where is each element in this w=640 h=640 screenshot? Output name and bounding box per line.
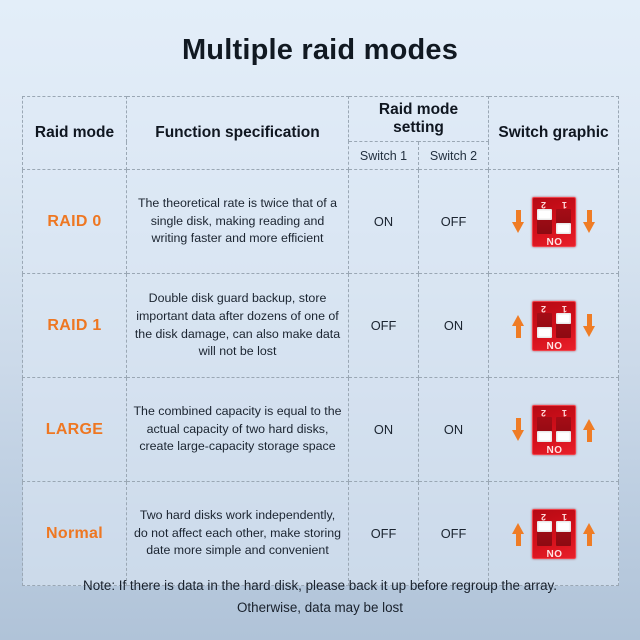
dip-on-label: ON xyxy=(533,338,575,350)
dip-on-label: ON xyxy=(533,442,575,454)
arrow-down-icon xyxy=(583,313,596,339)
dip-lever-2[interactable] xyxy=(537,209,552,220)
dip-number-1: 1 xyxy=(554,303,575,314)
column-header-switch-graphic: Switch graphic xyxy=(489,97,619,170)
dip-number-labels: 1 2 xyxy=(533,407,575,418)
column-subheader-switch-2: Switch 2 xyxy=(419,142,489,170)
cell-raid-mode: RAID 1 xyxy=(23,274,127,378)
dip-switch-graphic: ON 1 2 xyxy=(495,197,612,247)
dip-number-labels: 1 2 xyxy=(533,199,575,210)
dip-number-labels: 1 2 xyxy=(533,511,575,522)
raid-modes-table-container: Raid mode Function specification Raid mo… xyxy=(22,96,618,586)
dip-switch-graphic: ON 1 2 xyxy=(495,405,612,455)
footer-note: Note: If there is data in the hard disk,… xyxy=(0,575,640,619)
dip-slot-1[interactable] xyxy=(556,313,571,338)
cell-switch-2: OFF xyxy=(419,170,489,274)
dip-lever-1[interactable] xyxy=(556,521,571,532)
dip-lever-1[interactable] xyxy=(556,431,571,442)
page-title: Multiple raid modes xyxy=(0,0,640,67)
dip-slot-1[interactable] xyxy=(556,209,571,234)
column-subheader-switch-1: Switch 1 xyxy=(349,142,419,170)
cell-function-specification: The theoretical rate is twice that of a … xyxy=(127,170,349,274)
dip-lever-2[interactable] xyxy=(537,521,552,532)
dip-switch-body: ON 1 2 xyxy=(532,405,576,455)
dip-switch-body: ON 1 2 xyxy=(532,301,576,351)
column-header-raid-mode: Raid mode xyxy=(23,97,127,170)
cell-switch-2: ON xyxy=(419,274,489,378)
dip-slot-2[interactable] xyxy=(537,417,552,442)
cell-function-specification: The combined capacity is equal to the ac… xyxy=(127,378,349,482)
dip-slot-1[interactable] xyxy=(556,417,571,442)
dip-number-2: 2 xyxy=(533,199,554,210)
cell-switch-2: OFF xyxy=(419,482,489,586)
cell-function-specification: Two hard disks work independently, do no… xyxy=(127,482,349,586)
dip-on-label: ON xyxy=(533,546,575,558)
cell-switch-1: OFF xyxy=(349,274,419,378)
dip-lever-1[interactable] xyxy=(556,313,571,324)
table-row: RAID 0 The theoretical rate is twice tha… xyxy=(23,170,619,274)
dip-slots xyxy=(537,417,571,442)
dip-switch-graphic: ON 1 2 xyxy=(495,509,612,559)
dip-number-2: 2 xyxy=(533,303,554,314)
dip-slot-1[interactable] xyxy=(556,521,571,546)
dip-slot-2[interactable] xyxy=(537,209,552,234)
dip-number-labels: 1 2 xyxy=(533,303,575,314)
dip-lever-1[interactable] xyxy=(556,223,571,234)
dip-slot-2[interactable] xyxy=(537,313,552,338)
arrow-down-icon xyxy=(583,209,596,235)
footer-note-line-1: Note: If there is data in the hard disk,… xyxy=(24,575,616,597)
column-header-function-specification: Function specification xyxy=(127,97,349,170)
arrow-up-icon xyxy=(512,313,525,339)
dip-number-1: 1 xyxy=(554,511,575,522)
raid-modes-table: Raid mode Function specification Raid mo… xyxy=(22,96,619,586)
table-row: Normal Two hard disks work independently… xyxy=(23,482,619,586)
arrow-up-icon xyxy=(583,417,596,443)
cell-raid-mode: LARGE xyxy=(23,378,127,482)
arrow-up-icon xyxy=(512,521,525,547)
table-row: LARGE The combined capacity is equal to … xyxy=(23,378,619,482)
dip-number-2: 2 xyxy=(533,407,554,418)
dip-lever-2[interactable] xyxy=(537,431,552,442)
dip-number-1: 1 xyxy=(554,199,575,210)
cell-raid-mode: Normal xyxy=(23,482,127,586)
dip-lever-2[interactable] xyxy=(537,327,552,338)
arrow-up-icon xyxy=(583,521,596,547)
cell-switch-graphic: ON 1 2 xyxy=(489,482,619,586)
dip-number-2: 2 xyxy=(533,511,554,522)
cell-switch-graphic: ON 1 2 xyxy=(489,274,619,378)
column-header-raid-mode-setting: Raid mode setting xyxy=(349,97,489,142)
cell-switch-1: OFF xyxy=(349,482,419,586)
dip-switch-graphic: ON 1 2 xyxy=(495,301,612,351)
table-row: RAID 1 Double disk guard backup, store i… xyxy=(23,274,619,378)
cell-switch-graphic: ON 1 2 xyxy=(489,378,619,482)
dip-slots xyxy=(537,209,571,234)
cell-switch-1: ON xyxy=(349,378,419,482)
dip-slots xyxy=(537,313,571,338)
table-body: RAID 0 The theoretical rate is twice tha… xyxy=(23,170,619,586)
cell-switch-1: ON xyxy=(349,170,419,274)
footer-note-line-2: Otherwise, data may be lost xyxy=(24,597,616,619)
table-header: Raid mode Function specification Raid mo… xyxy=(23,97,619,170)
arrow-down-icon xyxy=(512,417,525,443)
dip-switch-body: ON 1 2 xyxy=(532,197,576,247)
dip-switch-body: ON 1 2 xyxy=(532,509,576,559)
cell-raid-mode: RAID 0 xyxy=(23,170,127,274)
dip-slot-2[interactable] xyxy=(537,521,552,546)
dip-slots xyxy=(537,521,571,546)
arrow-down-icon xyxy=(512,209,525,235)
dip-on-label: ON xyxy=(533,234,575,246)
dip-number-1: 1 xyxy=(554,407,575,418)
cell-switch-graphic: ON 1 2 xyxy=(489,170,619,274)
cell-switch-2: ON xyxy=(419,378,489,482)
cell-function-specification: Double disk guard backup, store importan… xyxy=(127,274,349,378)
